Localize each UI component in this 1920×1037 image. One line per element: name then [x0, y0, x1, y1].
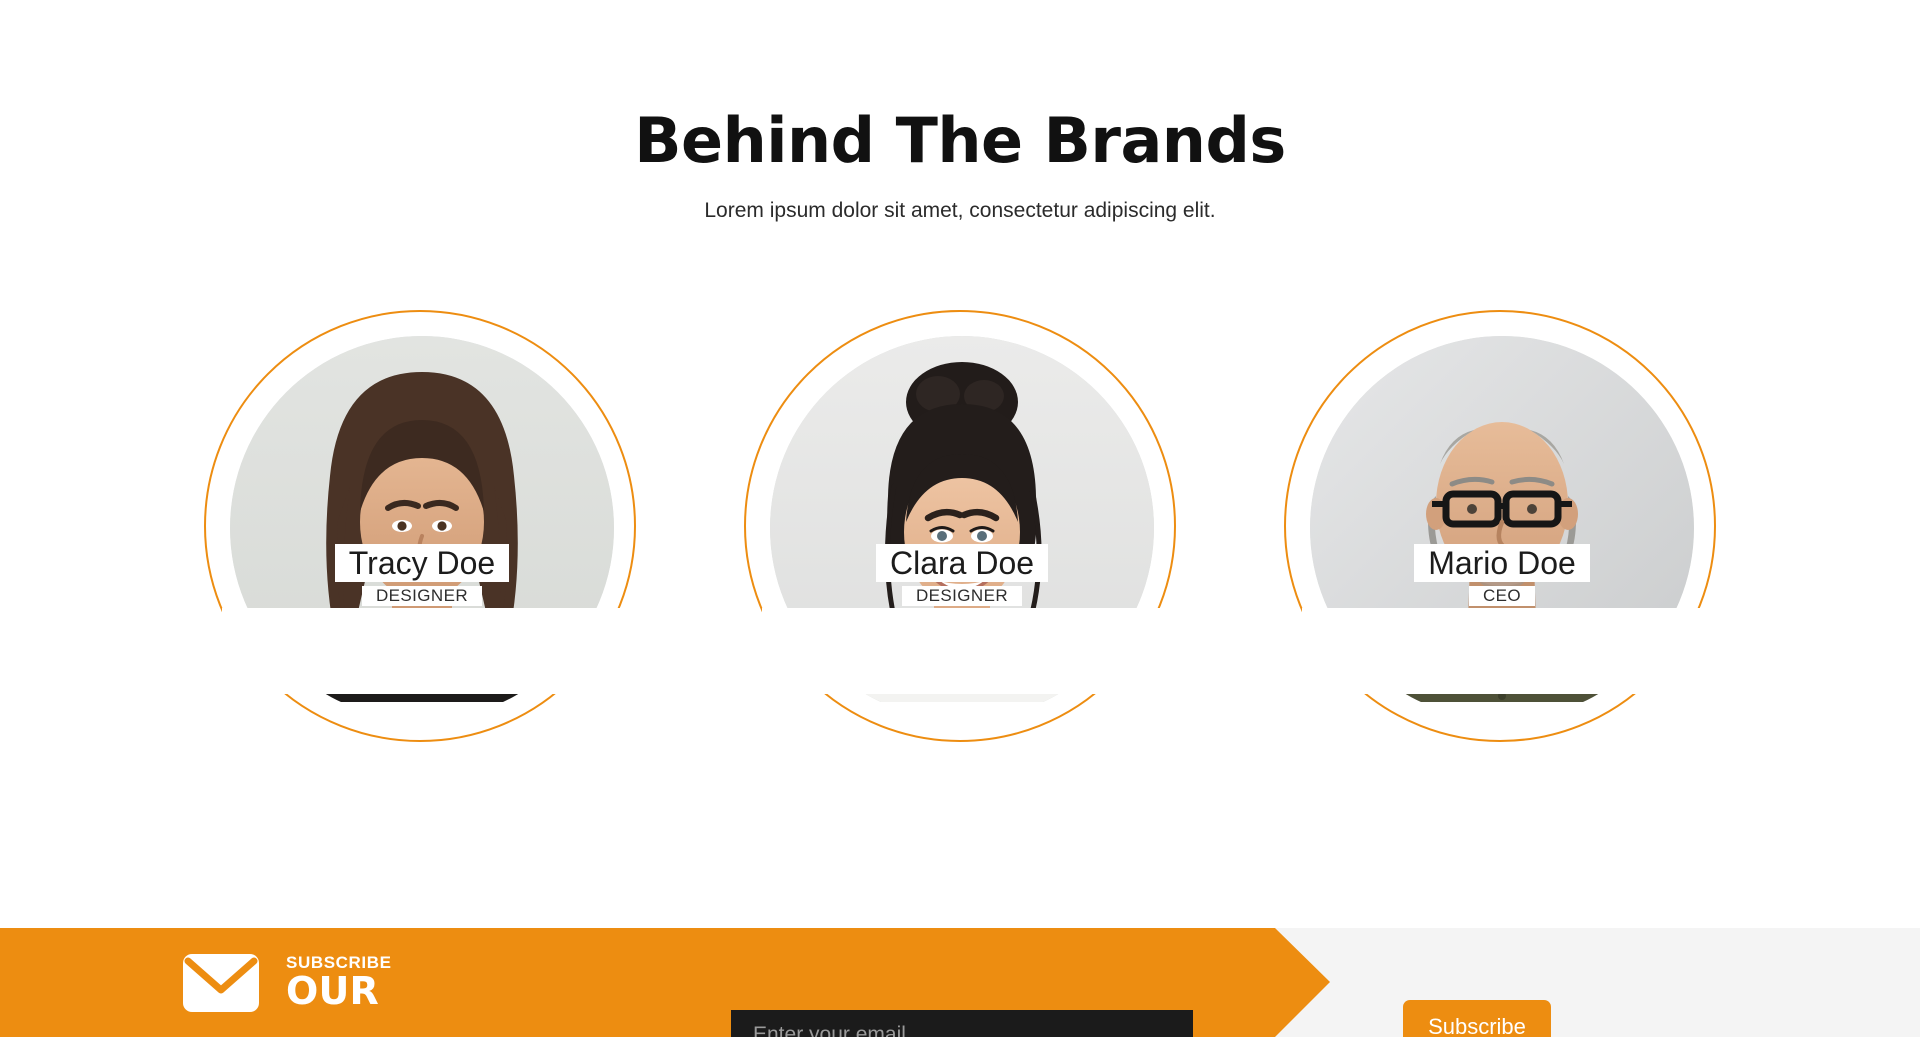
avatar-ring: Mario Doe CEO: [1284, 310, 1716, 742]
page-subtitle: Lorem ipsum dolor sit amet, consectetur …: [0, 197, 1920, 224]
subscribe-headline-group: SUBSCRIBE OUR: [182, 928, 392, 1037]
subscribe-button[interactable]: Subscribe: [1403, 1000, 1551, 1037]
avatar-ring: Clara Doe DESIGNER: [744, 310, 1176, 742]
page-title: Behind The Brands: [0, 108, 1920, 175]
team-member-grid: Tracy Doe DESIGNER: [0, 310, 1920, 742]
subscribe-headline: OUR: [286, 972, 392, 1012]
avatar-ring: Tracy Doe DESIGNER: [204, 310, 636, 742]
team-section-header: Behind The Brands Lorem ipsum dolor sit …: [0, 108, 1920, 224]
email-input[interactable]: [728, 1007, 1196, 1037]
team-member-card[interactable]: Clara Doe DESIGNER: [744, 310, 1176, 742]
page-root: Behind The Brands Lorem ipsum dolor sit …: [0, 0, 1920, 1037]
envelope-icon: [182, 953, 260, 1013]
team-member-card[interactable]: Mario Doe CEO: [1284, 310, 1716, 742]
team-member-card[interactable]: Tracy Doe DESIGNER: [204, 310, 636, 742]
name-backdrop: [222, 608, 622, 694]
name-backdrop: [1302, 608, 1702, 694]
name-backdrop: [762, 608, 1162, 694]
